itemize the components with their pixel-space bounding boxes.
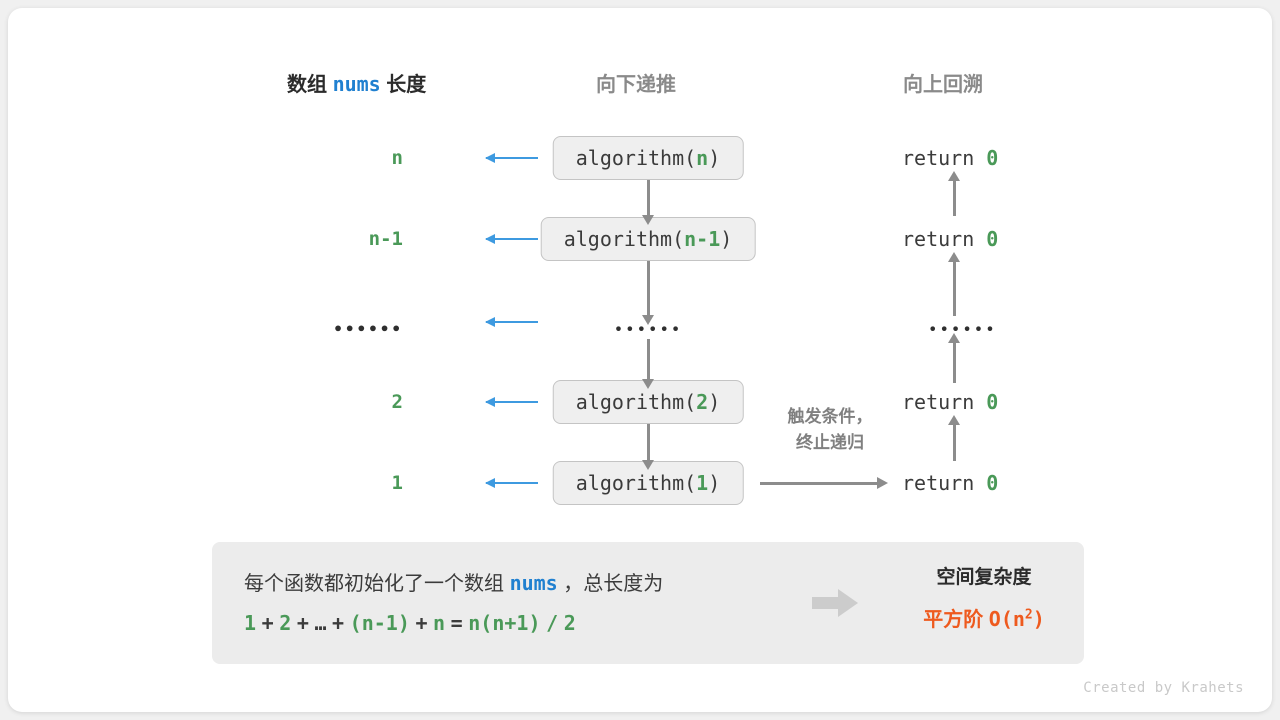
formula-t4: (n-1) bbox=[350, 611, 410, 635]
formula-t2: 2 bbox=[279, 611, 291, 635]
return-keyword: return bbox=[902, 471, 986, 495]
return-value: 0 bbox=[986, 227, 998, 251]
complexity-value: 平方阶 O(n2) bbox=[884, 603, 1084, 632]
call-prefix: algorithm( bbox=[564, 227, 684, 251]
formula-op3: + bbox=[332, 611, 344, 635]
return-value: 0 bbox=[986, 146, 998, 170]
summary-line-1: 每个函数都初始化了一个数组 nums ，总长度为 bbox=[244, 564, 804, 604]
return-ellipsis: •••••• bbox=[928, 320, 997, 339]
right-arrow-icon bbox=[812, 589, 858, 617]
formula-op1: + bbox=[262, 611, 274, 635]
formula-op5: / bbox=[546, 611, 558, 635]
up-arrow-icon bbox=[953, 342, 956, 383]
down-arrow-icon bbox=[647, 180, 650, 216]
return-keyword: return bbox=[902, 227, 986, 251]
header-left-code: nums bbox=[333, 72, 381, 96]
complexity-prefix: 平方阶 bbox=[923, 609, 989, 631]
return-value: 0 bbox=[986, 471, 998, 495]
summary-formula: 1 + 2 + … + (n-1) + n = n(n+1) / 2 bbox=[244, 604, 804, 644]
termination-note-line1: 触发条件， bbox=[770, 404, 890, 430]
array-size-label: n bbox=[392, 147, 403, 169]
call-arg: n-1 bbox=[684, 227, 720, 251]
call-prefix: algorithm( bbox=[576, 390, 696, 414]
return-label: return 0 bbox=[902, 390, 998, 414]
complexity-summary: 空间复杂度 平方阶 O(n2) bbox=[884, 562, 1084, 632]
formula-t5: n bbox=[433, 611, 445, 635]
up-arrow-icon bbox=[953, 424, 956, 461]
call-suffix: ) bbox=[708, 390, 720, 414]
summary-text-b: ，总长度为 bbox=[558, 573, 664, 595]
return-label: return 0 bbox=[902, 146, 998, 170]
down-arrow-icon bbox=[647, 424, 650, 461]
column-header-array-length: 数组 nums 长度 bbox=[287, 68, 426, 97]
down-arrow-icon bbox=[647, 339, 650, 380]
summary-panel: 每个函数都初始化了一个数组 nums ，总长度为 1 + 2 + … + (n-… bbox=[212, 542, 1084, 664]
return-label: return 0 bbox=[902, 227, 998, 251]
up-arrow-icon bbox=[953, 261, 956, 316]
credit-text: Created by Krahets bbox=[1083, 680, 1244, 696]
call-box[interactable]: algorithm(n) bbox=[553, 136, 744, 180]
return-keyword: return bbox=[902, 146, 986, 170]
formula-t7: 2 bbox=[564, 611, 576, 635]
column-header-backtrack-up: 向上回溯 bbox=[903, 68, 983, 97]
diagram-card: 数组 nums 长度 向下递推 向上回溯 n algorithm(n) retu… bbox=[8, 8, 1272, 712]
header-left-suffix: 长度 bbox=[381, 74, 427, 96]
formula-op2: + bbox=[297, 611, 309, 635]
summary-code-nums: nums bbox=[510, 571, 558, 595]
complexity-base: O(n bbox=[989, 607, 1025, 631]
call-suffix: ) bbox=[708, 471, 720, 495]
return-keyword: return bbox=[902, 390, 986, 414]
call-arg: 1 bbox=[696, 471, 708, 495]
array-size-label: n-1 bbox=[369, 228, 403, 250]
return-value: 0 bbox=[986, 390, 998, 414]
formula-t3: … bbox=[314, 611, 326, 635]
blue-left-arrow bbox=[486, 238, 538, 240]
blue-left-arrow bbox=[486, 321, 538, 323]
blue-left-arrow bbox=[486, 482, 538, 484]
down-arrow-icon bbox=[647, 261, 650, 316]
call-prefix: algorithm( bbox=[576, 471, 696, 495]
call-prefix: algorithm( bbox=[576, 146, 696, 170]
complexity-exponent: 2 bbox=[1025, 607, 1033, 622]
right-arrow-icon bbox=[760, 482, 878, 485]
call-suffix: ) bbox=[720, 227, 732, 251]
call-suffix: ) bbox=[708, 146, 720, 170]
array-size-label: 1 bbox=[392, 472, 403, 494]
column-header-recurse-down: 向下递推 bbox=[596, 68, 676, 97]
formula-eq: = bbox=[451, 611, 463, 635]
summary-text: 每个函数都初始化了一个数组 nums ，总长度为 1 + 2 + … + (n-… bbox=[244, 564, 804, 644]
array-size-label: 2 bbox=[392, 391, 403, 413]
complexity-close: ) bbox=[1033, 607, 1045, 631]
call-arg: 2 bbox=[696, 390, 708, 414]
up-arrow-icon bbox=[953, 180, 956, 216]
formula-op4: + bbox=[415, 611, 427, 635]
array-size-ellipsis: •••••• bbox=[333, 320, 403, 339]
formula-t1: 1 bbox=[244, 611, 256, 635]
complexity-title: 空间复杂度 bbox=[884, 562, 1084, 589]
formula-t6: n(n+1) bbox=[468, 611, 540, 635]
summary-text-a: 每个函数都初始化了一个数组 bbox=[244, 573, 510, 595]
termination-note: 触发条件， 终止递归 bbox=[770, 404, 890, 457]
header-left-prefix: 数组 bbox=[287, 74, 333, 96]
blue-left-arrow bbox=[486, 157, 538, 159]
blue-left-arrow bbox=[486, 401, 538, 403]
call-arg: n bbox=[696, 146, 708, 170]
termination-note-line2: 终止递归 bbox=[770, 430, 890, 456]
return-label: return 0 bbox=[902, 471, 998, 495]
